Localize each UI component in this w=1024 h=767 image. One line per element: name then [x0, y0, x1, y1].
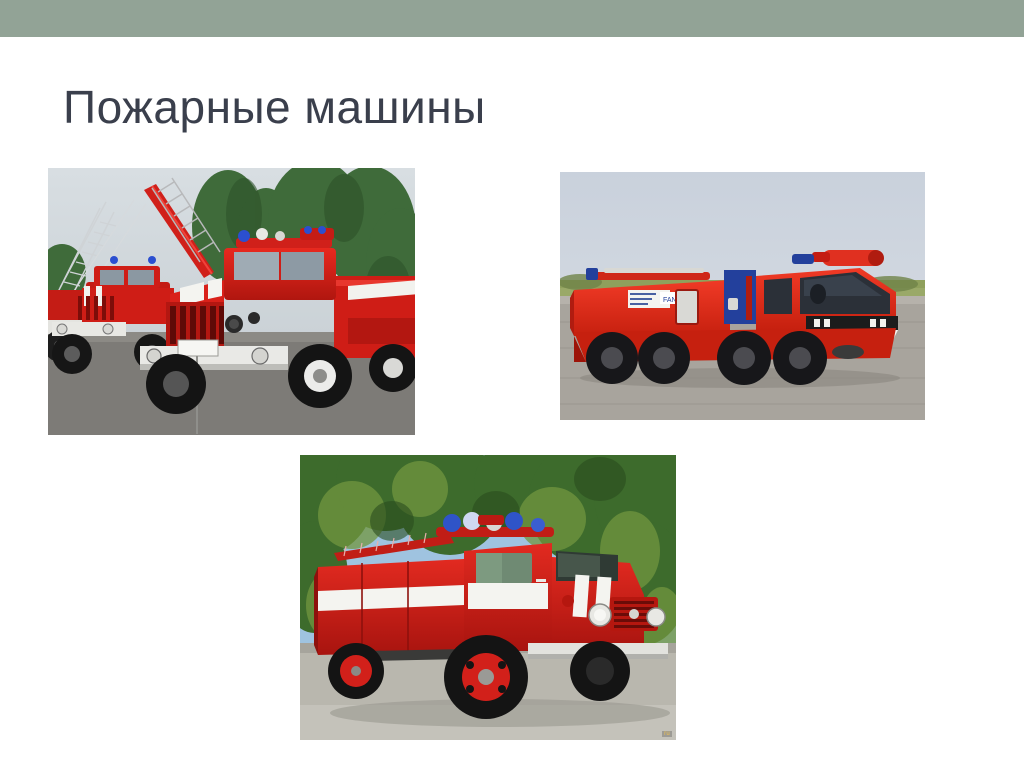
- image-airport-crash-tender: FAN: [560, 172, 925, 420]
- airport-crash-tender-illustration: FAN: [560, 172, 925, 420]
- ural-fire-trucks-illustration: [48, 168, 415, 435]
- image-zil-130-fire-engine: ru: [300, 455, 676, 740]
- slide-accent-bar: [0, 0, 1024, 37]
- image-watermark: ru: [662, 731, 672, 737]
- presentation-slide: Пожарные машины: [0, 0, 1024, 767]
- svg-text:FAN: FAN: [663, 297, 677, 304]
- zil-130-fire-engine-illustration: [300, 455, 676, 740]
- page-title: Пожарные машины: [63, 82, 486, 133]
- image-ural-ladder-fire-trucks: [48, 168, 415, 435]
